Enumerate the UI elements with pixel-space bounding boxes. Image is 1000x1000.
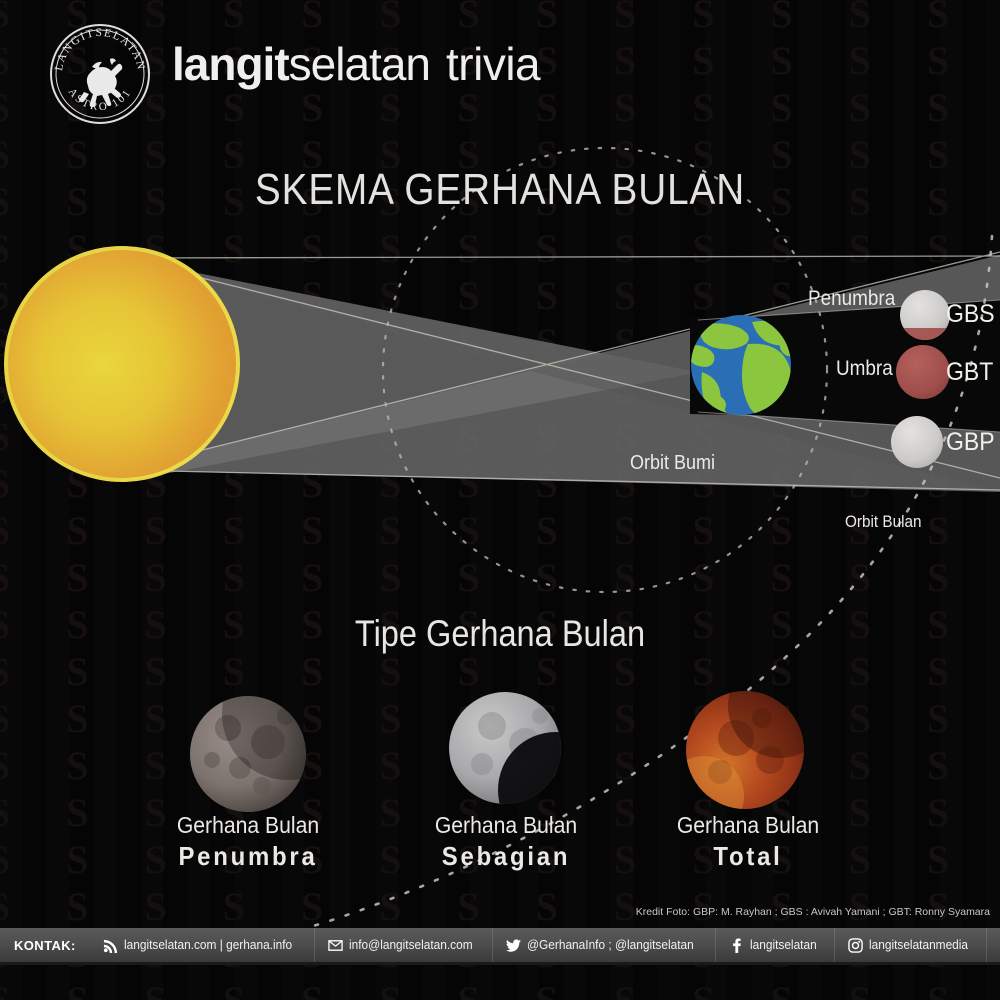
caption-line1: Gerhana Bulan [610, 812, 886, 839]
moon-photo-penumbral [190, 648, 354, 812]
caption-total: Gerhana Bulan Total [598, 812, 898, 872]
caption-penumbral: Gerhana Bulan Penumbra [98, 812, 398, 872]
label-penumbra: Penumbra [808, 287, 895, 311]
label-gbp: GBP [946, 428, 995, 457]
label-gbs: GBS [946, 300, 995, 329]
label-orbit-bumi: Orbit Bumi [630, 452, 715, 475]
logo-top-text: LANGITSELATAN [53, 27, 147, 72]
brand-bold: langit [172, 38, 289, 90]
footer-item-website[interactable]: langitselatan.com | gerhana.info [90, 928, 314, 962]
brand-suffix: trivia [446, 38, 540, 90]
caption-line2: Total [610, 841, 886, 872]
langitselatan-seal-logo: LANGITSELATAN ASTRO 101 [48, 22, 152, 126]
moon-marker-gbp [891, 416, 943, 468]
footer-item-facebook[interactable]: langitselatan [715, 928, 833, 962]
page-title: SKEMA GERHANA BULAN [60, 165, 940, 215]
infographic-canvas: S S S S S S S S S S S S S S S S S S S S … [0, 0, 1000, 1000]
svg-text:LANGITSELATAN: LANGITSELATAN [53, 27, 147, 72]
photo-credit: Kredit Foto: GBP: M. Rayhan ; GBS : Aviv… [636, 906, 990, 918]
footer-item-twitter[interactable]: @GerhanaInfo ; @langitselatan [492, 928, 715, 962]
contact-footer: KONTAK: langitselatan.com | gerhana.info… [0, 928, 1000, 962]
label-gbt: GBT [946, 358, 993, 387]
moon-photo-total [664, 654, 832, 836]
instagram-icon [848, 938, 863, 953]
label-orbit-bulan: Orbit Bulan [845, 512, 922, 532]
footer-item-label: info@langitselatan.com [349, 938, 473, 952]
kontak-label: KONTAK: [0, 938, 90, 953]
footer-item-email[interactable]: info@langitselatan.com [314, 928, 492, 962]
twitter-icon [506, 938, 521, 953]
sun [4, 246, 240, 482]
moon-marker-gbt [896, 345, 950, 399]
footer-bottom-rule [0, 962, 1000, 965]
footer-item-label: langitselatan [750, 938, 817, 952]
footer-item-label: langitselatan.com | gerhana.info [124, 938, 292, 952]
brand-wordmark: langitselatantrivia [172, 36, 540, 92]
facebook-icon [729, 938, 744, 953]
caption-line1: Gerhana Bulan [110, 812, 386, 839]
caption-line2: Penumbra [110, 841, 386, 872]
footer-item-googleplus[interactable]: G+ LangitselatanMedia [986, 928, 1000, 962]
footer-item-instagram[interactable]: langitselatanmedia [834, 928, 986, 962]
rss-icon [103, 938, 118, 953]
section-title: Tipe Gerhana Bulan [60, 613, 940, 655]
brand-light: selatan [289, 38, 430, 90]
envelope-icon [328, 938, 343, 953]
footer-item-label: @GerhanaInfo ; @langitselatan [527, 938, 694, 952]
label-umbra: Umbra [836, 357, 893, 381]
footer-item-label: langitselatanmedia [869, 938, 968, 952]
